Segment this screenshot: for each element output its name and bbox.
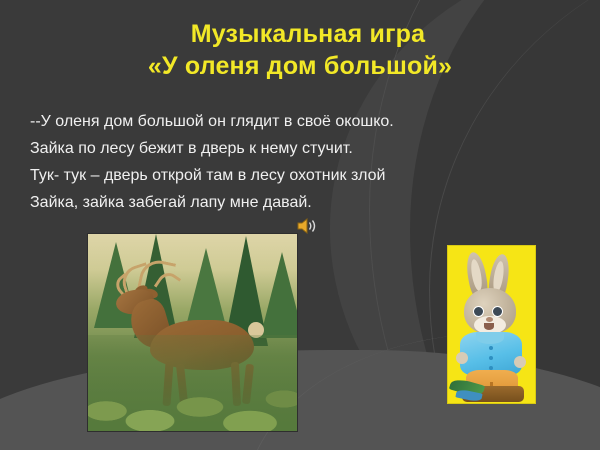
presentation-slide: Музыкальная игра «У оленя дом большой» -… xyxy=(0,0,600,450)
rabbit-shirt-button xyxy=(489,356,493,360)
fern-foliage xyxy=(88,335,297,431)
body-line-2: Зайка по лесу бежит в дверь к нему стучи… xyxy=(30,135,394,162)
slide-body-text: --У оленя дом большой он глядит в своё о… xyxy=(30,108,394,216)
slide-title-line-2: «У оленя дом большой» xyxy=(0,50,600,82)
rabbit-mouth xyxy=(484,323,494,330)
body-line-1: --У оленя дом большой он глядит в своё о… xyxy=(30,108,394,135)
rabbit-nose xyxy=(486,317,493,322)
rabbit-eye xyxy=(473,306,484,317)
rabbit-figure xyxy=(456,252,528,402)
slide-title-line-1: Музыкальная игра xyxy=(0,18,600,50)
rabbit-shirt-button xyxy=(489,346,493,350)
rabbit-paw xyxy=(514,356,526,368)
slide-title: Музыкальная игра «У оленя дом большой» xyxy=(0,18,600,82)
body-line-4: Зайка, зайка забегай лапу мне давай. xyxy=(30,189,394,216)
rabbit-image[interactable] xyxy=(448,246,535,403)
rabbit-paw xyxy=(456,352,468,364)
speaker-icon[interactable] xyxy=(296,217,318,235)
conifer-tree xyxy=(260,252,297,338)
body-line-3: Тук- тук – дверь открой там в лесу охотн… xyxy=(30,162,394,189)
rabbit-shirt-collar xyxy=(476,332,504,344)
deer-image[interactable] xyxy=(88,234,297,431)
rabbit-eye xyxy=(492,306,503,317)
